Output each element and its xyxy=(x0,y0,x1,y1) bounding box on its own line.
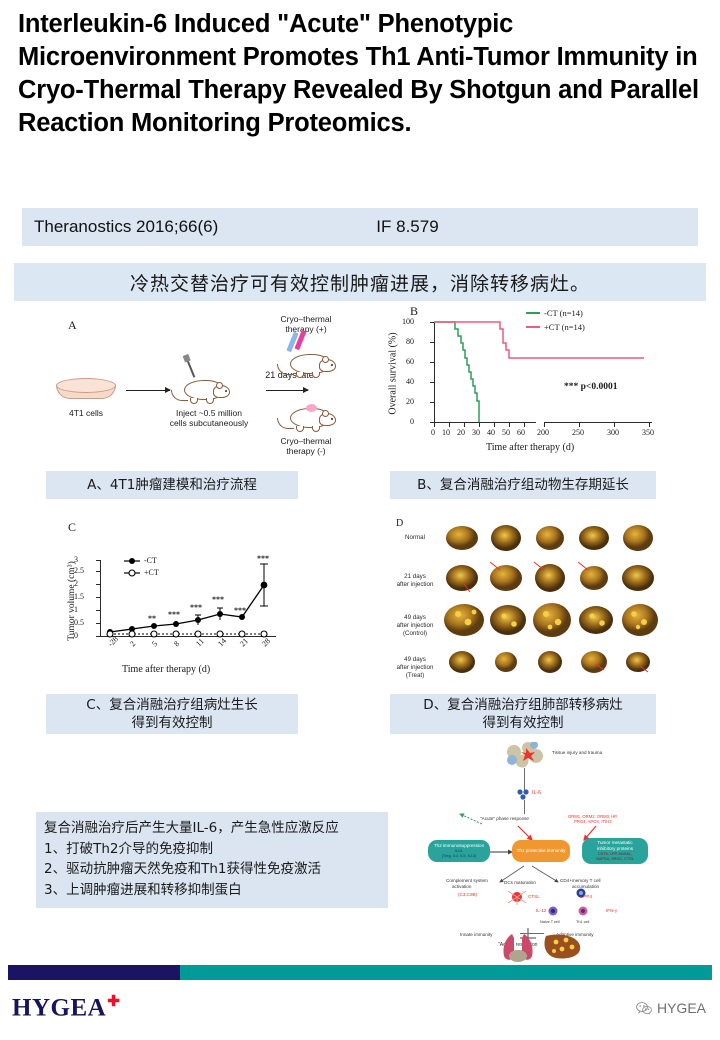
pathway-complement-genes: (C3,C9B) xyxy=(458,892,477,898)
caption-panel-a: A、4T1肿瘤建模和治疗流程 xyxy=(46,471,298,499)
panel-a-therapy-neg-1: Cryo–thermal xyxy=(270,436,342,446)
panel-c-sig-4: *** xyxy=(190,603,202,612)
journal-impact-factor: IF 8.579 xyxy=(376,217,438,237)
figure-panel-b-survival-chart: B 0 20 40 60 80 100 Overall survival (%)… xyxy=(386,302,686,466)
pathway-ifng-label: IFN-γ xyxy=(606,908,617,914)
organ-icons xyxy=(498,930,590,964)
panel-d-row-label-49days-control: 49 days after injection (Control) xyxy=(388,614,442,637)
hygea-logo-text: HYGEA xyxy=(12,994,106,1021)
pathway-th1cell-label: Th1 cell xyxy=(576,920,589,925)
legend-marker-open-icon xyxy=(124,569,140,577)
footer-bar-navy xyxy=(8,965,180,980)
pathway-line-il6-to-acute xyxy=(524,800,525,814)
conclusion-line-1: 复合消融治疗后产生大量IL-6，产生急性应激反应 xyxy=(44,818,380,839)
red-cross-icon: ✚ xyxy=(107,994,120,1010)
panel-c-sig-2: ** xyxy=(148,614,156,623)
il6-molecule-icon xyxy=(516,788,530,800)
mouse-therapy-positive xyxy=(286,350,338,380)
wechat-icon xyxy=(636,1002,652,1015)
legend-line-minus-ct-icon xyxy=(526,312,540,314)
figure-panel-c-tumor-volume-chart: C 0 0.5 1 1.5 2 2.5 3 Tumor volume (cm³)… xyxy=(44,518,344,684)
pathway-complement-label-2: activation xyxy=(452,884,471,890)
conclusion-line-3: 2、驱动抗肿瘤天然免疫和Th1获得性免疫激活 xyxy=(44,859,380,880)
panel-a-inject-label-1: Inject ~0.5 million xyxy=(154,408,264,418)
pathway-line-injury-to-il6 xyxy=(524,768,525,790)
panel-c-sig-3: *** xyxy=(168,610,180,619)
panel-d-specimen-images xyxy=(444,522,684,686)
wechat-label: HYGEA xyxy=(657,1000,706,1016)
pathway-acute-proteins-label: ORM1, ORM2, ORM3, HP, PRG4, APCS, ITIH3 xyxy=(568,814,618,825)
panel-a-therapy-neg-2: therapy (-) xyxy=(270,446,342,456)
pathway-dcs-maturation-label: DCs maturation xyxy=(504,880,536,886)
panel-a-letter: A xyxy=(68,318,77,333)
caption-panel-c: C、复合消融治疗组病灶生长 得到有效控制 xyxy=(46,694,298,734)
pathway-il12-label: IL-12 xyxy=(536,908,546,914)
figure-pathway-diagram: Tissue injury and trauma IL-6 "Acute" ph… xyxy=(420,742,656,960)
panel-b-legend-item-minus-ct: -CT (n=14) xyxy=(526,308,583,318)
legend-label-minus-ct: -CT (n=14) xyxy=(544,308,583,318)
pathway-naive-tcell-label: Naive T cell xyxy=(540,920,560,925)
conclusion-line-2: 1、打破Th2介导的免疫抑制 xyxy=(44,839,380,860)
wechat-account: HYGEA xyxy=(636,1000,706,1016)
conclusion-text-block: 复合消融治疗后产生大量IL-6，产生急性应激反应 1、打破Th2介导的免疫抑制 … xyxy=(36,812,388,908)
tumor-marker-icon xyxy=(306,404,317,412)
panel-a-cells-label: 4T1 cells xyxy=(48,408,124,418)
legend-label-c-minus-ct: -CT xyxy=(144,556,157,565)
th1cell-icon xyxy=(578,906,588,916)
caption-panel-b: B、复合消融治疗组动物生存期延长 xyxy=(390,471,656,499)
pathway-acute-phase-label: "Acute" phase response xyxy=(480,816,529,822)
panel-c-sig-7: *** xyxy=(257,554,269,563)
legend-label-c-plus-ct: +CT xyxy=(144,568,159,577)
figure-panel-d-lung-metastasis: D Normal 21 days after injection 49 days… xyxy=(382,518,688,686)
cell-culture-dish-icon xyxy=(56,378,116,402)
panel-c-sig-5: *** xyxy=(212,595,224,604)
page-title: Interleukin-6 Induced "Acute" Phenotypic… xyxy=(18,8,702,141)
panel-d-row-label-49days-treat: 49 days after injection (Treat) xyxy=(388,656,442,679)
slide-root: Interleukin-6 Induced "Acute" Phenotypic… xyxy=(0,0,720,1040)
journal-info-bar: Theranostics 2016;66(6) IF 8.579 xyxy=(22,208,698,246)
dendritic-cell-icon xyxy=(506,888,528,906)
pathway-box-tumor-metastatic-inhibitory: Tumor metastatic inhibitory proteins CST… xyxy=(582,838,648,864)
pathway-il6-label: IL-6 xyxy=(532,790,541,797)
pathway-innate-immunity-label: Innate immunity xyxy=(460,932,492,938)
legend-line-plus-ct-icon xyxy=(526,326,540,328)
subtitle-text: 冷热交替治疗可有效控制肿瘤进展，消除转移病灶。 xyxy=(130,269,590,296)
tissue-injury-icon xyxy=(504,742,548,768)
panel-d-letter: D xyxy=(396,518,403,529)
panel-a-therapy-pos-1: Cryo–thermal xyxy=(270,314,342,324)
dpp4-marker-icon xyxy=(576,888,586,898)
pathway-box-th2-immunosuppression: Th2 immunosuppression IL10, (Treg, IL4, … xyxy=(428,840,490,862)
figure-panel-a: A 4T1 cells Inject ~0.5 million cells su… xyxy=(34,308,364,466)
panel-c-series xyxy=(44,518,344,684)
panel-c-sig-6: *** xyxy=(234,606,246,615)
hygea-logo: HYGEA✚ xyxy=(12,992,120,1022)
caption-panel-d: D、复合消融治疗组肺部转移病灶 得到有效控制 xyxy=(390,694,656,734)
panel-d-row-label-21days: 21 days after injection xyxy=(388,573,442,589)
journal-name: Theranostics 2016;66(6) xyxy=(34,217,218,237)
footer-bar-teal xyxy=(180,965,712,980)
panel-b-pvalue-annotation: *** p<0.0001 xyxy=(564,382,617,392)
panel-c-legend-item-plus-ct: +CT xyxy=(124,568,159,577)
arrow-mouse-to-therapy xyxy=(266,390,308,391)
footer-color-bar xyxy=(0,965,720,980)
panel-d-row-label-normal: Normal xyxy=(388,534,442,542)
pathway-ctsl-label: CTSL xyxy=(528,894,540,900)
legend-label-plus-ct: +CT (n=14) xyxy=(544,322,585,332)
arrow-dish-to-mouse xyxy=(126,390,170,391)
panel-a-inject-label-2: cells subcutaneously xyxy=(154,418,264,428)
legend-marker-filled-icon xyxy=(124,557,140,565)
mouse-injected xyxy=(180,376,232,406)
conclusion-line-4: 3、上调肿瘤进展和转移抑制蛋白 xyxy=(44,880,380,901)
panel-c-legend-item-minus-ct: -CT xyxy=(124,556,157,565)
panel-b-legend-item-plus-ct: +CT (n=14) xyxy=(526,322,585,332)
naive-tcell-icon xyxy=(548,906,558,916)
subtitle-banner: 冷热交替治疗可有效控制肿瘤进展，消除转移病灶。 xyxy=(14,263,706,301)
pathway-tissue-injury-label: Tissue injury and trauma xyxy=(552,750,602,756)
pathway-box-th1-protective-immunity: Th1 protective immunity xyxy=(512,840,570,862)
